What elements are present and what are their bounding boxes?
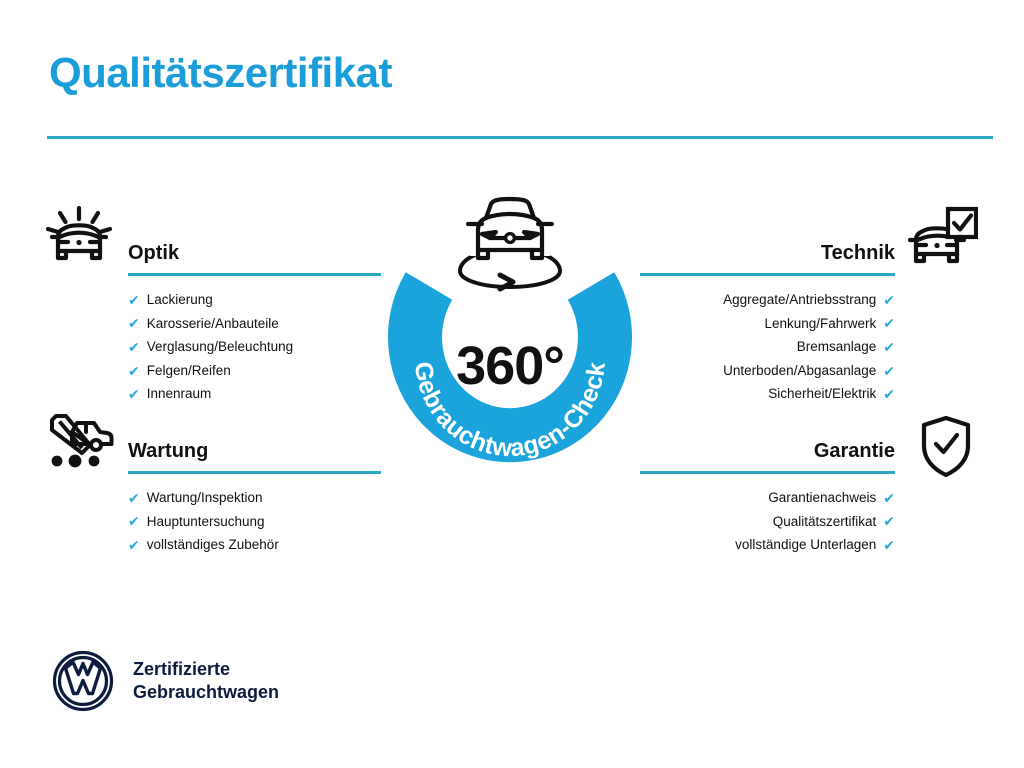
footer-line-1: Zertifizierte [133,658,279,681]
car-checkbox-icon [908,206,978,273]
list-item-label: vollständiges Zubehör [147,533,279,557]
check-icon: ✔ [128,387,140,401]
section-header-optik: Optik [128,238,381,278]
section-underline-garantie [640,471,895,474]
list-item-label: Hauptuntersuchung [147,510,265,534]
list-item: ✔ Innenraum [128,382,381,406]
list-item-label: Innenraum [147,382,212,406]
list-item: ✔ Felgen/Reifen [128,359,381,383]
section-title-technik: Technik [640,238,895,268]
check-icon: ✔ [883,340,895,354]
list-item-label: Unterboden/Abgasanlage [723,359,876,383]
list-item-label: Verglasung/Beleuchtung [147,335,293,359]
list-item-label: Sicherheit/Elektrik [768,382,876,406]
list-item-label: Karosserie/Anbauteile [147,312,279,336]
section-title-garantie: Garantie [640,436,895,466]
check-icon: ✔ [128,316,140,330]
list-item: Sicherheit/Elektrik ✔ [640,382,895,406]
check-icon: ✔ [883,364,895,378]
checklist-garantie: Garantienachweis ✔ Qualitätszertifikat ✔… [640,486,895,557]
list-item: Bremsanlage ✔ [640,335,895,359]
car-front-rotate-icon [456,192,564,301]
list-item: ✔ Hauptuntersuchung [128,510,381,534]
check-icon: ✔ [883,538,895,552]
pencil-car-service-icon [46,414,114,475]
section-header-technik: Technik [640,238,895,278]
check-icon: ✔ [883,387,895,401]
list-item-label: Lackierung [147,288,213,312]
list-item: Lenkung/Fahrwerk ✔ [640,312,895,336]
page-title: Qualitätszertifikat [49,52,392,94]
section-underline-technik [640,273,895,276]
list-item-label: Garantienachweis [768,486,876,510]
check-icon: ✔ [128,293,140,307]
check-icon: ✔ [128,538,140,552]
checklist-optik: ✔ Lackierung ✔ Karosserie/Anbauteile ✔ V… [128,288,381,406]
list-item-label: Bremsanlage [797,335,877,359]
shield-check-icon [920,416,972,483]
list-item-label: Aggregate/Antriebsstrang [723,288,876,312]
list-item: ✔ Karosserie/Anbauteile [128,312,381,336]
section-header-wartung: Wartung [128,436,381,476]
check-icon: ✔ [128,514,140,528]
car-front-shine-icon [46,206,112,273]
list-item-label: Felgen/Reifen [147,359,231,383]
section-garantie: Garantie Garantienachweis ✔ Qualitätszer… [640,436,895,557]
badge-360-gebrauchtwagen-check: Gebrauchtwagen-Check [372,192,648,488]
list-item: Garantienachweis ✔ [640,486,895,510]
list-item: vollständige Unterlagen ✔ [640,533,895,557]
volkswagen-logo [52,650,114,712]
checklist-technik: Aggregate/Antriebsstrang ✔ Lenkung/Fahrw… [640,288,895,406]
section-title-wartung: Wartung [128,436,381,466]
section-underline-optik [128,273,381,276]
list-item-label: Wartung/Inspektion [147,486,263,510]
list-item: ✔ vollständiges Zubehör [128,533,381,557]
list-item-label: Lenkung/Fahrwerk [764,312,876,336]
check-icon: ✔ [128,340,140,354]
check-icon: ✔ [883,491,895,505]
section-technik: Technik Aggregate/Antriebsstrang ✔ Lenku… [640,238,895,406]
badge-center-label: 360° [372,335,648,397]
list-item: Qualitätszertifikat ✔ [640,510,895,534]
footer-brand: Zertifizierte Gebrauchtwagen [52,650,279,712]
section-underline-wartung [128,471,381,474]
section-optik: Optik ✔ Lackierung ✔ Karosserie/Anbautei… [128,238,381,406]
list-item: ✔ Verglasung/Beleuchtung [128,335,381,359]
check-icon: ✔ [883,293,895,307]
footer-brand-text: Zertifizierte Gebrauchtwagen [133,658,279,704]
list-item: ✔ Lackierung [128,288,381,312]
section-wartung: Wartung ✔ Wartung/Inspektion ✔ Hauptunte… [128,436,381,557]
title-divider [47,136,993,139]
check-icon: ✔ [128,364,140,378]
list-item: ✔ Wartung/Inspektion [128,486,381,510]
section-header-garantie: Garantie [640,436,895,476]
list-item: Aggregate/Antriebsstrang ✔ [640,288,895,312]
footer-line-2: Gebrauchtwagen [133,681,279,704]
check-icon: ✔ [883,514,895,528]
list-item-label: vollständige Unterlagen [735,533,876,557]
checklist-wartung: ✔ Wartung/Inspektion ✔ Hauptuntersuchung… [128,486,381,557]
section-title-optik: Optik [128,238,381,268]
list-item: Unterboden/Abgasanlage ✔ [640,359,895,383]
list-item-label: Qualitätszertifikat [773,510,877,534]
check-icon: ✔ [128,491,140,505]
check-icon: ✔ [883,316,895,330]
